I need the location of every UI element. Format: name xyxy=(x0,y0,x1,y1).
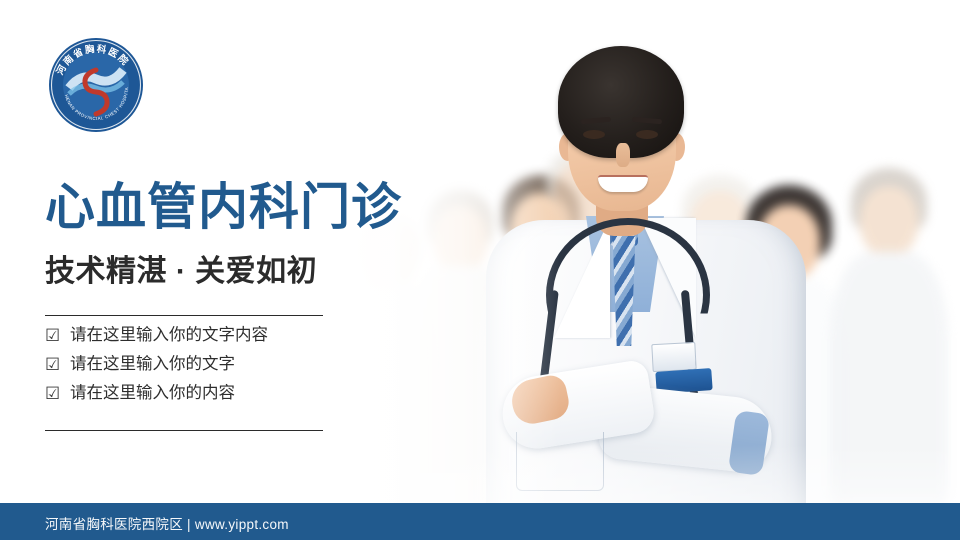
background-person xyxy=(830,168,948,505)
doctor-team-photo xyxy=(330,0,960,505)
list-item-label: 请在这里输入你的内容 xyxy=(70,385,235,402)
page-title: 心血管内科门诊 xyxy=(45,181,402,234)
divider-bottom xyxy=(45,430,323,431)
list-item-label: 请在这里输入你的文字内容 xyxy=(70,327,268,344)
doctor-id-card xyxy=(651,342,696,372)
bullet-list: ☑ 请在这里输入你的文字内容 ☑ 请在这里输入你的文字 ☑ 请在这里输入你的内容 xyxy=(45,327,345,414)
list-item: ☑ 请在这里输入你的文字内容 xyxy=(45,327,345,344)
page-subtitle: 技术精湛 · 关爱如初 xyxy=(45,254,317,290)
list-item: ☑ 请在这里输入你的内容 xyxy=(45,385,345,402)
doctor-hair xyxy=(558,46,684,158)
list-item: ☑ 请在这里输入你的文字 xyxy=(45,356,345,373)
doctor-smile xyxy=(598,175,648,192)
doctor-eye-right xyxy=(636,130,658,139)
doctor-nose xyxy=(616,143,630,167)
checkbox-icon: ☑ xyxy=(45,385,62,402)
checkbox-icon: ☑ xyxy=(45,356,62,373)
slide-footer-bar: 河南省胸科医院西院区 | www.yippt.com xyxy=(0,503,960,540)
divider-top xyxy=(45,315,323,316)
checkbox-icon: ☑ xyxy=(45,327,62,344)
presentation-slide: 河南省胸科医院 HENAN PROVINCIAL CHEST HOSPITAL … xyxy=(0,0,960,540)
footer-label: 河南省胸科医院西院区 | www.yippt.com xyxy=(45,513,289,533)
list-item-label: 请在这里输入你的文字 xyxy=(70,356,235,373)
doctor-eye-left xyxy=(583,130,605,139)
foreground-doctor xyxy=(480,40,810,505)
slide-content-column: 河南省胸科医院 HENAN PROVINCIAL CHEST HOSPITAL … xyxy=(0,0,340,540)
hospital-crest-logo: 河南省胸科医院 HENAN PROVINCIAL CHEST HOSPITAL xyxy=(47,36,145,134)
doctor-coat-pocket xyxy=(516,432,604,491)
